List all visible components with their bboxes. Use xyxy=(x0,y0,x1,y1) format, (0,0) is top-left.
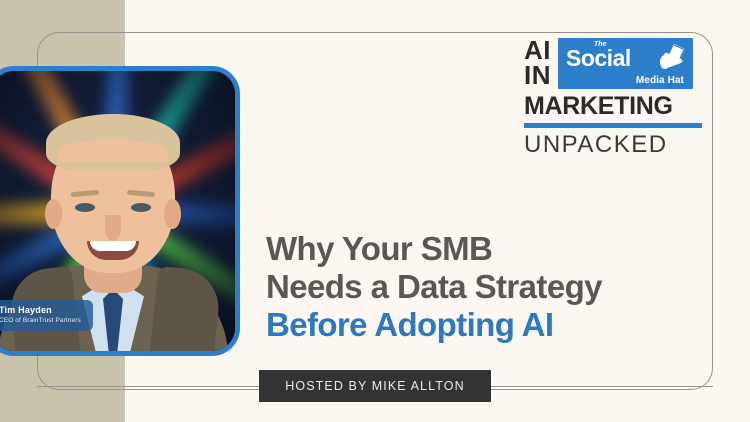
logo-media-hat-text: Media Hat xyxy=(636,75,684,86)
host-badge: HOSTED BY MIKE ALLTON xyxy=(259,370,490,402)
headline-line-1: Why Your SMB xyxy=(266,230,696,268)
social-media-hat-logo: The Social Media Hat xyxy=(558,38,693,89)
hat-icon xyxy=(654,40,688,72)
brand-line-unpacked: UNPACKED xyxy=(524,131,704,158)
host-rule-right xyxy=(491,386,713,387)
brand-divider-bar xyxy=(524,123,702,128)
brand-line-in: IN xyxy=(524,63,551,88)
guest-name: Tim Hayden xyxy=(0,305,81,316)
host-rule-left xyxy=(37,386,259,387)
logo-social-text: Social xyxy=(566,45,631,72)
headline-line-2: Needs a Data Strategy xyxy=(266,268,696,306)
host-row: HOSTED BY MIKE ALLTON xyxy=(37,371,713,401)
slide-canvas: Tim Hayden CEO of BrainTrust Partners AI… xyxy=(0,0,750,422)
episode-headline: Why Your SMB Needs a Data Strategy Befor… xyxy=(266,230,696,344)
brand-lockup: AI IN The Social Media Hat MARKETING UN xyxy=(524,38,704,158)
brand-line-marketing: MARKETING xyxy=(524,91,704,121)
guest-nameplate: Tim Hayden CEO of BrainTrust Partners xyxy=(0,300,93,331)
guest-role: CEO of BrainTrust Partners xyxy=(0,316,81,325)
guest-photo-card: Tim Hayden CEO of BrainTrust Partners xyxy=(0,66,240,356)
headline-line-3: Before Adopting AI xyxy=(266,306,696,344)
